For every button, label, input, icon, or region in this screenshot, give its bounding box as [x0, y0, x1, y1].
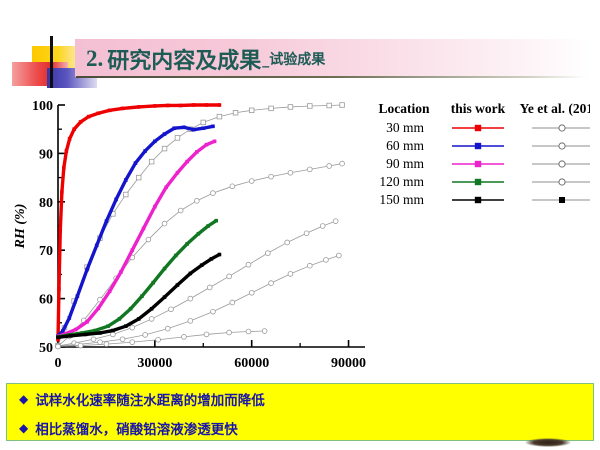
data-point — [56, 336, 60, 340]
data-point — [163, 267, 167, 271]
legend-label: 150 mm — [379, 192, 424, 207]
data-point — [149, 159, 154, 164]
data-point — [265, 251, 270, 256]
legend-marker-this-work — [475, 143, 481, 149]
data-point — [165, 326, 170, 331]
data-point — [269, 281, 274, 286]
data-point — [192, 128, 196, 132]
data-point — [74, 328, 78, 332]
data-point — [129, 307, 133, 311]
data-point — [166, 104, 170, 108]
data-point — [108, 290, 112, 294]
data-point — [189, 272, 193, 276]
diamond-bullet-icon: ◆ — [19, 422, 28, 434]
bullet-text: 试样水化速率随注水距离的增加而降低 — [35, 389, 265, 409]
data-point — [150, 307, 154, 311]
data-point — [185, 242, 189, 246]
data-point — [146, 237, 151, 242]
data-point — [218, 253, 222, 257]
page-title: 2. 研究内容及成果 _试验成果 — [86, 40, 325, 77]
data-point — [201, 126, 205, 130]
data-point — [153, 140, 157, 144]
data-point — [340, 161, 345, 166]
x-tick-label: 0 — [55, 356, 62, 370]
data-point — [211, 309, 216, 314]
data-point — [67, 316, 71, 320]
data-point — [124, 324, 128, 328]
data-point — [56, 344, 61, 349]
diamond-bullet-icon: ◆ — [19, 393, 28, 405]
data-point — [123, 192, 128, 197]
legend-marker-ye — [559, 143, 565, 149]
data-point — [230, 300, 235, 305]
data-point — [201, 120, 206, 125]
data-point — [119, 270, 123, 274]
data-point — [324, 257, 329, 262]
legend-marker-ye — [559, 179, 565, 185]
x-tick-label: 30000 — [137, 356, 172, 370]
data-point — [85, 268, 89, 272]
data-point — [176, 283, 180, 287]
data-point — [91, 337, 96, 342]
data-point — [76, 294, 80, 298]
legend-marker-ye — [559, 161, 565, 167]
data-point — [114, 198, 118, 202]
data-point — [98, 331, 102, 335]
data-point — [57, 287, 61, 291]
data-point — [143, 149, 147, 153]
y-tick-label: 100 — [32, 99, 53, 114]
data-point — [62, 166, 66, 170]
data-point — [162, 221, 167, 226]
data-point — [111, 329, 115, 333]
data-point — [185, 160, 189, 164]
chart-container: 50607080901000300006000090000RH (%)Locat… — [10, 95, 590, 370]
data-point — [188, 296, 193, 301]
data-point — [142, 227, 146, 231]
legend-header-location: Location — [378, 101, 429, 116]
legend-label: 30 mm — [386, 120, 424, 135]
data-point — [156, 337, 161, 342]
data-point — [195, 150, 199, 154]
data-point — [333, 219, 338, 224]
data-point — [285, 240, 290, 245]
data-point — [308, 104, 313, 109]
data-point — [205, 103, 209, 107]
data-point — [307, 167, 312, 172]
data-point — [213, 140, 217, 144]
data-point — [206, 224, 210, 228]
data-point — [153, 104, 157, 108]
legend-marker-this-work — [475, 125, 481, 131]
data-point — [249, 290, 254, 295]
legend-marker-ye — [559, 125, 565, 131]
data-point — [95, 244, 99, 248]
data-point — [98, 340, 103, 345]
data-point — [72, 127, 76, 131]
data-point — [211, 124, 215, 128]
data-point — [204, 332, 209, 337]
data-point — [233, 110, 238, 115]
data-point — [163, 132, 167, 136]
data-point — [320, 224, 325, 229]
legend-label: 60 mm — [386, 138, 424, 153]
x-tick-label: 90000 — [331, 356, 366, 370]
data-point — [230, 184, 235, 189]
data-point — [288, 170, 293, 175]
data-point — [108, 109, 112, 113]
data-point — [269, 106, 274, 111]
data-point — [304, 231, 309, 236]
data-point — [143, 333, 148, 338]
data-point — [269, 174, 274, 179]
data-point — [110, 332, 115, 337]
chart-legend: Locationthis workYe et al. (2010)30 mm60… — [378, 101, 590, 207]
y-tick-label: 60 — [39, 293, 53, 308]
data-point — [169, 307, 174, 312]
data-point — [249, 108, 254, 113]
conclusions-box: ◆ 试样水化速率随注水距离的增加而降低 ◆ 相比蒸馏水，硝酸铅溶液渗透更快 — [6, 383, 594, 441]
data-point — [104, 342, 109, 347]
data-point — [340, 103, 345, 108]
data-point — [163, 295, 167, 299]
data-point — [262, 329, 267, 334]
data-point — [153, 205, 157, 209]
y-tick-label: 50 — [39, 341, 53, 356]
data-point — [288, 105, 293, 110]
data-point — [249, 179, 254, 184]
legend-label: 120 mm — [379, 174, 424, 189]
data-point — [65, 149, 69, 153]
title-main: 研究内容及成果 — [107, 43, 261, 75]
data-point — [227, 330, 232, 335]
data-point — [124, 178, 128, 182]
data-point — [97, 111, 101, 115]
data-point — [106, 324, 110, 328]
slide: 2. 研究内容及成果 _试验成果 50607080901000300006000… — [0, 0, 600, 450]
legend-marker-this-work — [475, 197, 481, 203]
series-line — [58, 164, 342, 346]
x-tick-label: 60000 — [234, 356, 269, 370]
series-60-mm-ye-et-al-2010- — [56, 161, 345, 348]
legend-marker-this-work — [475, 179, 481, 185]
legend-header-this-work: this work — [451, 101, 506, 116]
data-point — [130, 248, 134, 252]
data-point — [246, 262, 251, 267]
data-point — [192, 103, 196, 107]
data-point — [87, 115, 91, 119]
data-point — [85, 320, 89, 324]
series-30-mm-this-work- — [56, 103, 221, 341]
bullet-text: 相比蒸馏水，硝酸铅溶液渗透更快 — [35, 418, 238, 438]
data-point — [174, 254, 178, 258]
data-point — [179, 104, 183, 108]
data-point — [68, 137, 72, 141]
data-point — [246, 329, 251, 334]
rh-vs-time-chart: 50607080901000300006000090000RH (%)Locat… — [10, 95, 590, 370]
data-point — [84, 333, 88, 337]
data-point — [336, 253, 341, 258]
series-line — [58, 105, 342, 346]
data-point — [118, 317, 122, 321]
y-tick-label: 70 — [39, 244, 53, 259]
y-tick-label: 90 — [39, 147, 53, 162]
title-sub: _试验成果 — [262, 49, 325, 69]
y-axis-label: RH (%) — [13, 204, 28, 250]
data-point — [200, 263, 204, 267]
data-point — [288, 272, 293, 277]
data-point — [120, 337, 125, 342]
data-point — [130, 325, 135, 330]
data-point — [207, 285, 212, 290]
data-point — [194, 198, 199, 203]
data-point — [210, 257, 214, 261]
list-item: ◆ 试样水化速率随注水距离的增加而降低 — [7, 384, 593, 413]
data-point — [182, 125, 186, 129]
data-point — [162, 146, 167, 151]
data-point — [182, 334, 187, 339]
data-point — [164, 185, 168, 189]
y-tick-label: 80 — [39, 196, 53, 211]
data-point — [140, 294, 144, 298]
data-point — [211, 191, 216, 196]
data-point — [134, 161, 138, 165]
data-point — [69, 334, 73, 338]
legend-label: 90 mm — [386, 156, 424, 171]
data-point — [58, 229, 62, 233]
data-point — [188, 318, 193, 323]
series-line — [58, 105, 219, 340]
data-point — [79, 120, 83, 124]
data-point — [327, 103, 332, 108]
data-point — [214, 219, 218, 223]
data-point — [121, 107, 125, 111]
data-point — [178, 208, 183, 213]
data-point — [197, 232, 201, 236]
data-point — [227, 274, 232, 279]
data-point — [60, 190, 64, 194]
list-item: ◆ 相比蒸馏水，硝酸铅溶液渗透更快 — [7, 413, 593, 442]
data-point — [151, 281, 155, 285]
data-point — [136, 175, 141, 180]
data-point — [97, 306, 101, 310]
data-point — [176, 171, 180, 175]
data-point — [78, 343, 83, 348]
legend-marker-this-work — [475, 161, 481, 167]
data-point — [149, 317, 154, 322]
data-point — [327, 164, 332, 169]
legend-header-ye: Ye et al. (2010) — [520, 101, 590, 116]
data-point — [172, 126, 176, 130]
data-point — [307, 263, 312, 268]
title-number: 2. — [86, 46, 103, 72]
legend-marker-ye — [559, 197, 565, 203]
series-30-mm-ye-et-al-2010- — [56, 103, 345, 348]
footer-shadow-ellipse — [525, 438, 571, 447]
data-point — [217, 114, 222, 119]
data-point — [175, 136, 180, 141]
data-point — [61, 329, 65, 333]
data-point — [137, 105, 141, 109]
data-point — [137, 317, 141, 321]
data-point — [205, 143, 209, 147]
decor-vertical-bar — [50, 36, 53, 88]
data-point — [218, 103, 222, 107]
data-point — [105, 219, 109, 223]
data-point — [130, 340, 135, 345]
